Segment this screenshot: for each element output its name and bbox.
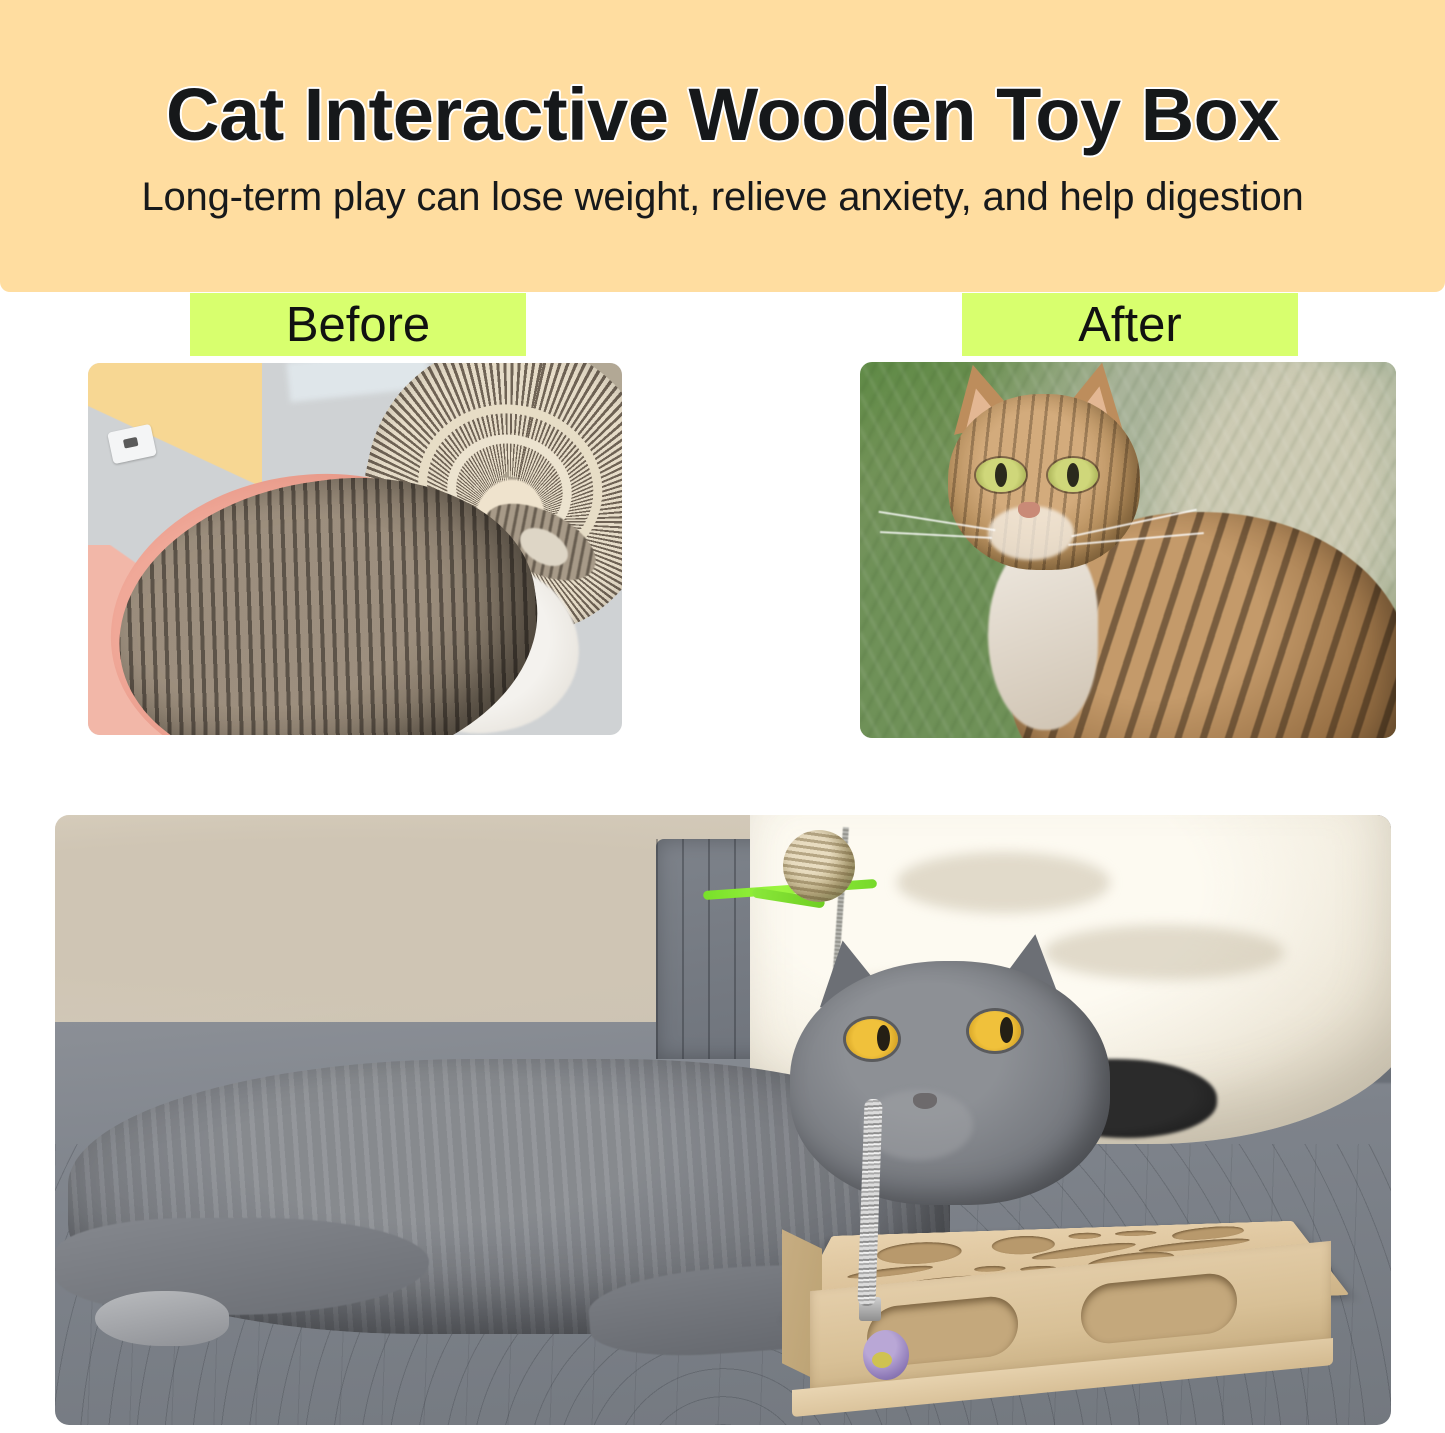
blanket-fold	[897, 852, 1111, 913]
toy-box-front-opening	[1081, 1271, 1237, 1346]
grey-cat-head	[790, 961, 1111, 1205]
after-cat-pupil-left	[995, 463, 1007, 487]
before-photo	[88, 363, 622, 735]
toy-box-hole	[1068, 1233, 1102, 1240]
grey-cat-paw	[95, 1291, 229, 1346]
before-label-text: Before	[286, 297, 430, 353]
main-product-photo	[55, 815, 1391, 1425]
grey-cat-pupil-left	[877, 1025, 890, 1051]
after-photo	[860, 362, 1396, 738]
product-infographic: Cat Interactive Wooden Toy Box Long-term…	[0, 0, 1445, 1433]
grey-cat-eye-right	[969, 1011, 1021, 1051]
page-title: Cat Interactive Wooden Toy Box	[166, 76, 1279, 154]
grey-cat-pupil-right	[1000, 1017, 1013, 1043]
toy-box-hole	[974, 1266, 1005, 1273]
after-cat-nose	[1018, 502, 1040, 518]
after-cat-pupil-right	[1067, 463, 1079, 487]
page-subtitle: Long-term play can lose weight, relieve …	[141, 175, 1303, 220]
grey-cat-nose	[913, 1093, 937, 1109]
header-banner: Cat Interactive Wooden Toy Box Long-term…	[0, 0, 1445, 292]
toy-box-hole	[873, 1241, 964, 1266]
after-label: After	[962, 293, 1298, 356]
grey-cat-eye-left	[846, 1019, 898, 1059]
after-label-text: After	[1078, 297, 1181, 353]
sisal-ball	[783, 830, 855, 902]
blanket-fold	[1044, 925, 1284, 980]
before-label: Before	[190, 293, 526, 356]
toy-box-hole	[1115, 1230, 1158, 1237]
